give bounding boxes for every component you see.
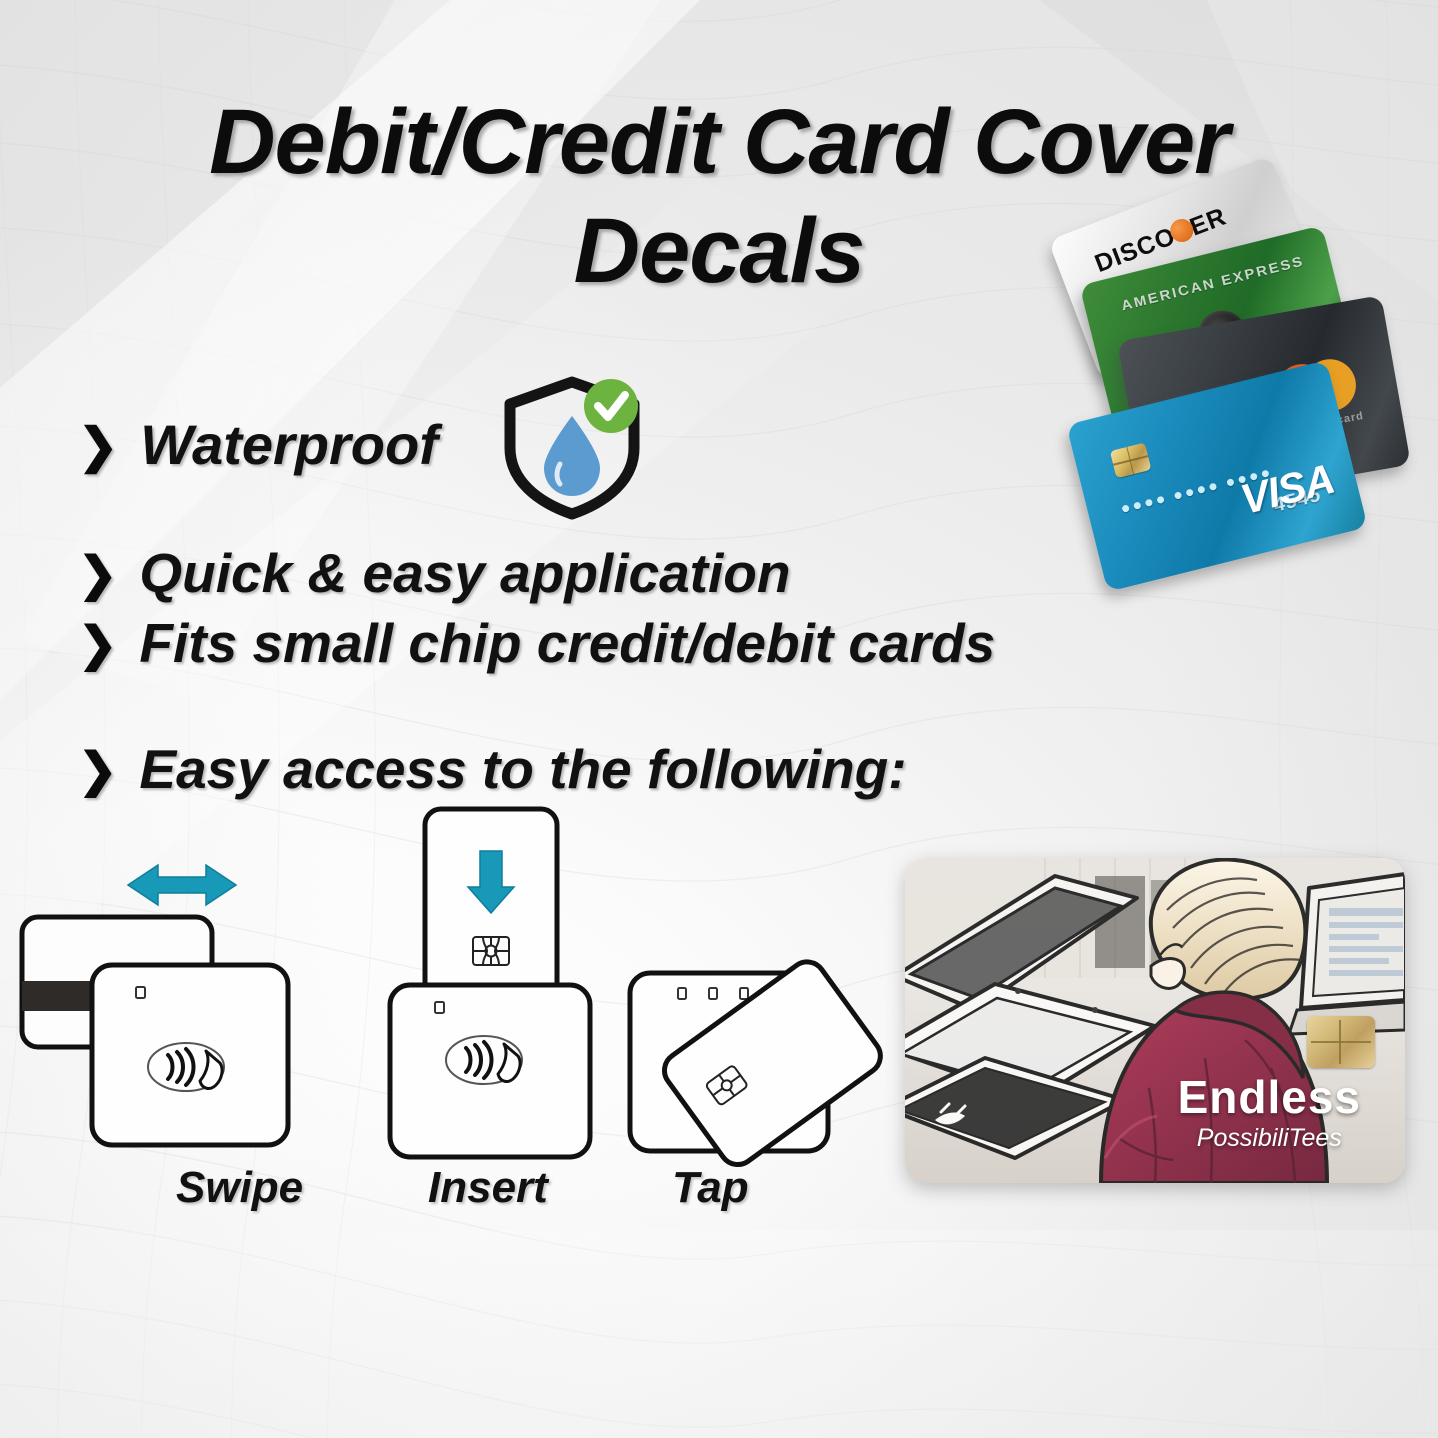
- swipe-diagram: [22, 865, 288, 1145]
- feature-label-waterproof: Waterproof: [140, 412, 438, 477]
- payment-methods-diagram: [0, 795, 900, 1225]
- bullet-arrow-icon: ❯: [78, 746, 117, 793]
- feature-item-quick-application: ❯ Quick & easy application: [78, 541, 1138, 605]
- product-photo-anime-hoodie-card: Endless PossibiliTees: [905, 858, 1405, 1183]
- page-title: Debit/Credit Card Cover Decals: [0, 88, 1438, 305]
- page-title-line-2: Decals: [40, 197, 1398, 306]
- check-badge-icon: [584, 379, 638, 433]
- feature-label-fits-cards: Fits small chip credit/debit cards: [139, 611, 995, 675]
- feature-label-easy-access: Easy access to the following:: [139, 737, 906, 801]
- product-card-emv-chip-icon: [1307, 1016, 1375, 1068]
- visa-brand-label: VISA: [1236, 455, 1339, 524]
- bullet-arrow-icon: ❯: [78, 550, 117, 597]
- insert-card-reader: [390, 985, 590, 1157]
- product-brand-line-2: PossibiliTees: [1178, 1124, 1361, 1153]
- bullet-arrow-icon: ❯: [78, 620, 117, 667]
- waterproof-shield-icon: [492, 372, 652, 522]
- feature-item-easy-access: ❯ Easy access to the following:: [78, 737, 1138, 801]
- tap-diagram: [630, 955, 887, 1172]
- swipe-double-arrow-icon: [128, 865, 236, 905]
- poster-canvas: Debit/Credit Card Cover Decals ❯ Waterpr…: [0, 0, 1438, 1438]
- product-brand-line-1: Endless: [1178, 1076, 1361, 1120]
- page-title-line-1: Debit/Credit Card Cover: [40, 88, 1398, 197]
- feature-item-fits-cards: ❯ Fits small chip credit/debit cards: [78, 611, 1138, 675]
- bullet-arrow-icon: ❯: [78, 423, 118, 471]
- insert-diagram: [390, 809, 590, 1157]
- product-brand-lockup: Endless PossibiliTees: [1178, 1076, 1361, 1153]
- feature-label-quick-application: Quick & easy application: [139, 541, 790, 605]
- swipe-card-reader: [92, 965, 288, 1145]
- water-droplet-icon: [544, 416, 600, 496]
- insert-emv-chip-icon: [473, 937, 509, 965]
